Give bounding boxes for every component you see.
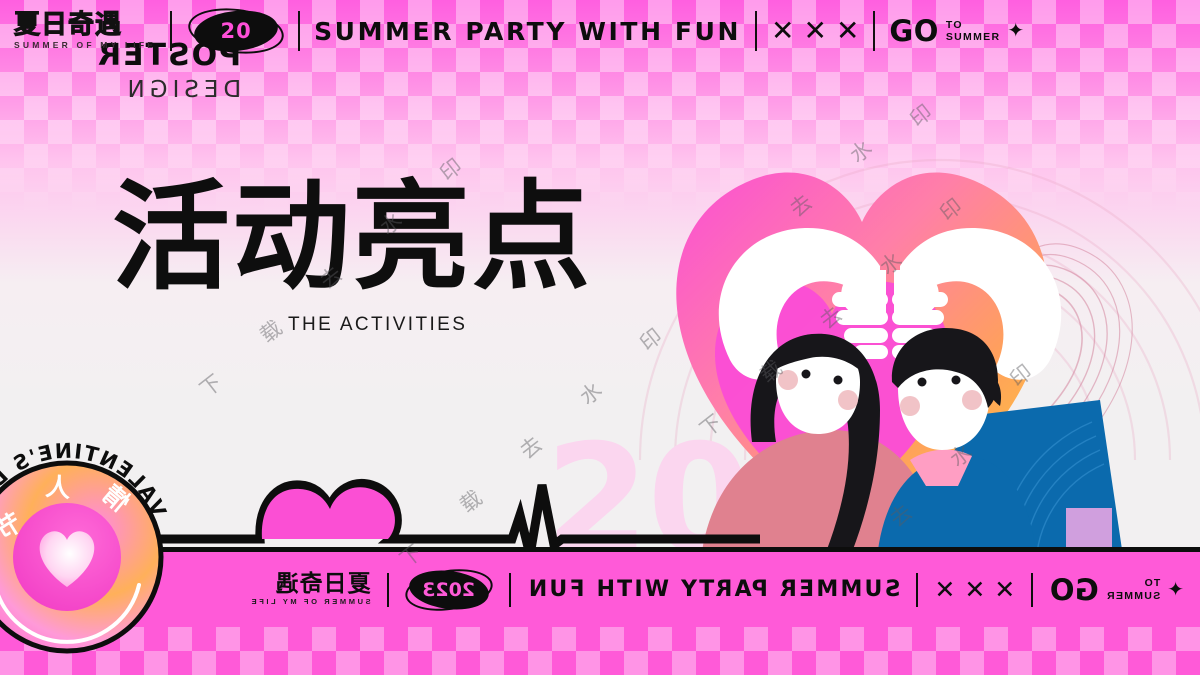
header-go-to-summer[interactable]: GO TO SUMMER ✦: [889, 14, 1024, 48]
footer-divider-2: [916, 573, 918, 607]
header-divider-2: [298, 11, 300, 51]
header-x-marks: ✕ ✕ ✕: [771, 17, 859, 45]
footer-year-badge: 2023: [405, 570, 493, 610]
go-summer-label: SUMMER: [1106, 590, 1160, 602]
go-label: GO: [889, 14, 938, 48]
footer-year-badge-text: 2023: [422, 579, 475, 601]
footer-divider-4: [387, 573, 389, 607]
x-icon: ✕: [836, 17, 859, 45]
sparkle-icon: ✦: [1007, 21, 1024, 41]
header-year-badge-text: 20: [220, 19, 251, 43]
footer-divider-3: [509, 573, 511, 607]
header-logo[interactable]: 夏日奇遇 SUMMER OF MY LIFE: [14, 12, 156, 50]
footer-logo[interactable]: 夏日奇遇 SUMMER OF MY LIFE: [249, 573, 371, 606]
page-title: 活动亮点: [112, 175, 592, 300]
header-divider-1: [170, 11, 172, 51]
header-logo-cn: 夏日奇遇: [14, 12, 156, 38]
footer-go-to-summer[interactable]: ✦ TO SUMMER GO: [1049, 573, 1184, 607]
header-divider-3: [755, 11, 757, 51]
header-title: SUMMER PARTY WITH FUN: [314, 17, 741, 46]
go-to-label: TO: [946, 19, 1000, 31]
page-subtitle: THE ACTIVITIES: [288, 314, 592, 336]
header-bar: 夏日奇遇 SUMMER OF MY LIFE 20 SUMMER PARTY W…: [0, 0, 1200, 62]
header-logo-en: SUMMER OF MY LIFE: [14, 41, 156, 50]
footer-x-marks: ✕ ✕ ✕: [934, 575, 1015, 604]
go-summer-label: SUMMER: [946, 31, 1000, 43]
poster-canvas: 2023 夏日奇遇 SUMMER OF MY LIFE 20 SUMMER PA…: [0, 0, 1200, 675]
x-icon: ✕: [803, 17, 826, 45]
header-divider-4: [873, 11, 875, 51]
footer-logo-cn: 夏日奇遇: [249, 573, 371, 596]
x-icon: ✕: [994, 575, 1015, 604]
badge-cn-char-2: 人: [45, 472, 72, 503]
header-year-badge: 20: [188, 9, 284, 53]
sparkle-icon: ✦: [1167, 580, 1184, 600]
x-icon: ✕: [771, 17, 794, 45]
valentines-day-badge[interactable]: VALENTINE'S DAY 情 人 节: [0, 435, 182, 665]
x-icon: ✕: [964, 575, 985, 604]
go-to-label: TO: [1106, 577, 1160, 589]
x-icon: ✕: [934, 575, 955, 604]
footer-divider-1: [1031, 573, 1033, 607]
main-title-block: 活动亮点 THE ACTIVITIES: [112, 175, 592, 336]
footer-title: SUMMER PARTY WITH FUN: [527, 577, 901, 602]
go-label: GO: [1049, 573, 1098, 607]
footer-logo-en: SUMMER OF MY LIFE: [249, 598, 371, 606]
